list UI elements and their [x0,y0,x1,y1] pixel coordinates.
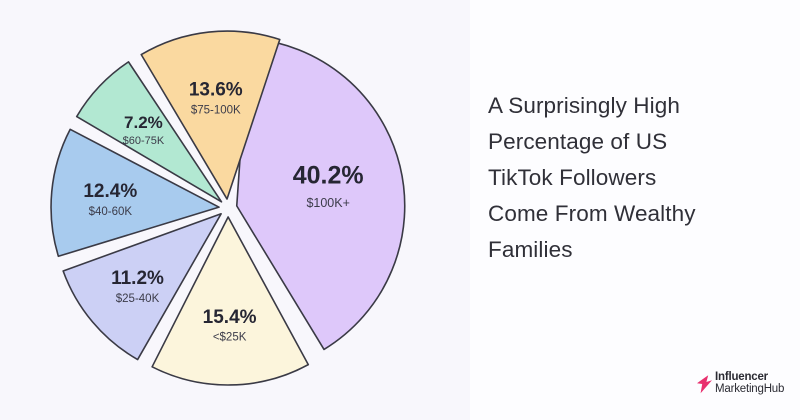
headline-line-5: Families [488,232,788,268]
slice-percent-label: 12.4% [83,181,137,202]
slice-category-label: $100K+ [306,196,349,210]
headline-text: A Surprisingly High Percentage of US Tik… [488,88,788,268]
slice-percent-label: 15.4% [203,307,257,328]
pie-chart-container: 40.2%$100K+15.4%<$25K11.2%$25-40K12.4%$4… [10,8,460,413]
slice-category-label: <$25K [213,332,247,344]
slice-category-label: $25-40K [116,293,160,305]
headline-line-3: TikTok Followers [488,160,788,196]
headline-line-1: A Surprisingly High [488,88,788,124]
slice-percent-label: 40.2% [293,162,364,190]
slice-category-label: $40-60K [89,206,133,218]
headline-line-2: Percentage of US [488,124,788,160]
slice-percent-label: 7.2% [124,113,163,132]
pie-chart: 40.2%$100K+15.4%<$25K11.2%$25-40K12.4%$4… [10,8,460,413]
infographic-canvas: 40.2%$100K+15.4%<$25K11.2%$25-40K12.4%$4… [0,0,800,420]
headline-line-4: Come From Wealthy [488,196,788,232]
slice-category-label: $60-75K [123,135,165,147]
left-arrow-icon [697,374,712,394]
slice-percent-label: 13.6% [189,80,243,101]
slice-percent-label: 11.2% [111,268,164,289]
influencer-marketing-hub-logo: Influencer MarketingHub [697,372,784,396]
slice-category-label: $75-100K [191,104,241,116]
logo-line-marketinghub: MarketingHub [715,384,784,396]
logo-wordmark: Influencer MarketingHub [715,372,784,396]
